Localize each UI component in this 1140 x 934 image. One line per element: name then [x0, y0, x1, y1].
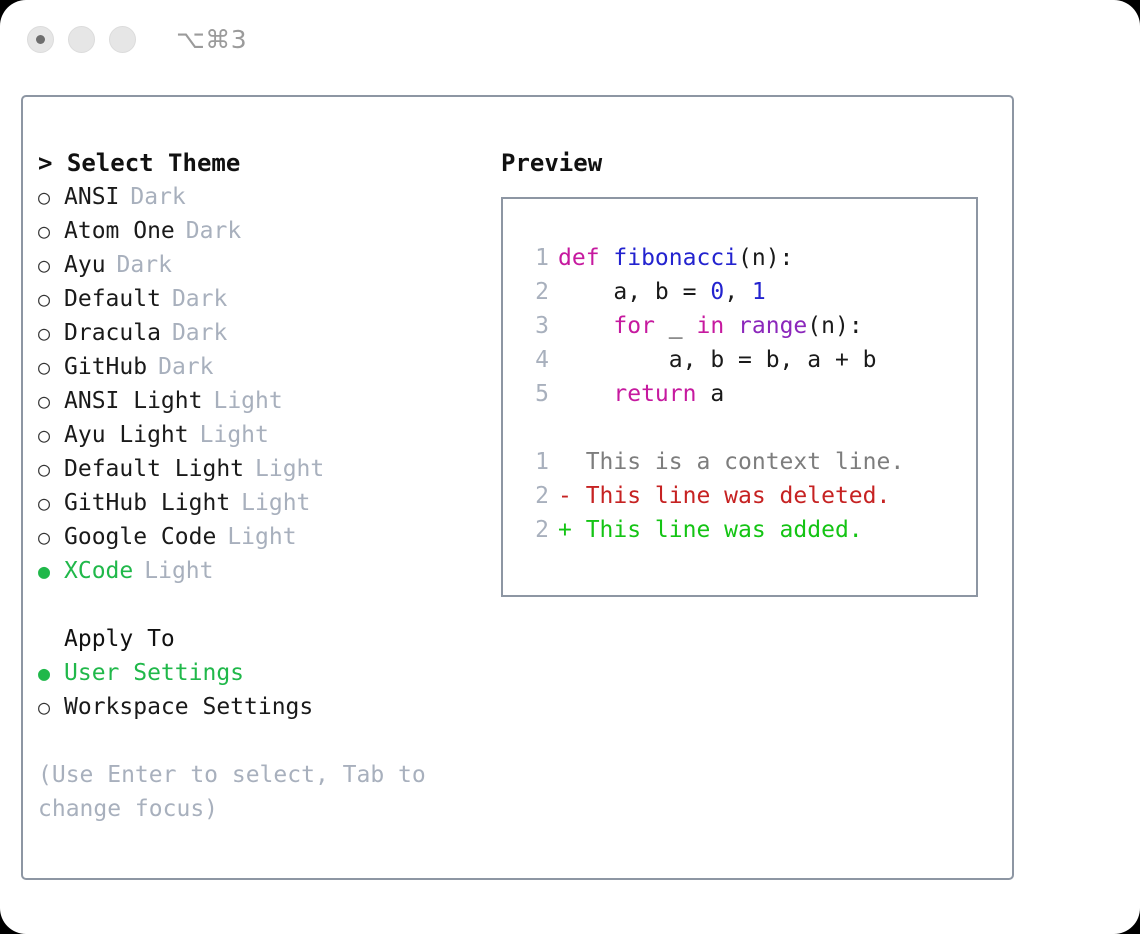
code-token-pl: _	[655, 313, 697, 339]
theme-option-ansi-light[interactable]: ○ANSI LightLight	[38, 384, 498, 418]
zoom-button[interactable]	[109, 26, 136, 53]
code-line: 5 return a	[521, 377, 976, 411]
theme-option-label: GitHub	[64, 350, 147, 384]
code-token-kw: def	[558, 245, 613, 271]
theme-variant-tag: Light	[213, 384, 282, 418]
theme-variant-tag: Dark	[117, 248, 172, 282]
theme-option-ansi[interactable]: ○ANSIDark	[38, 180, 498, 214]
code-token-kw: in	[696, 313, 724, 339]
preview-box: 1def fibonacci(n):2 a, b = 0, 13 for _ i…	[501, 197, 978, 597]
code-token-call: range	[738, 313, 807, 339]
code-token-del: - This line was deleted.	[558, 483, 890, 509]
theme-selector-column: > Select Theme ○ANSIDark○Atom OneDark○Ay…	[38, 146, 498, 826]
code-token-add: + This line was added.	[558, 517, 863, 543]
code-line-text: + This line was added.	[558, 513, 863, 547]
theme-option-default[interactable]: ○DefaultDark	[38, 282, 498, 316]
code-token-pl	[724, 313, 738, 339]
theme-variant-tag: Dark	[172, 316, 227, 350]
line-number: 2	[521, 479, 549, 513]
diff-preview: 1 This is a context line.2- This line wa…	[521, 445, 976, 547]
code-line-text: This is a context line.	[558, 445, 904, 479]
theme-option-label: GitHub Light	[64, 486, 230, 520]
close-button[interactable]	[27, 26, 54, 53]
traffic-light-group	[27, 26, 136, 53]
code-line-text: def fibonacci(n):	[558, 241, 793, 275]
theme-option-label: Ayu Light	[64, 418, 189, 452]
theme-option-label: Default Light	[64, 452, 244, 486]
code-token-ctx: This is a context line.	[558, 449, 904, 475]
apply-to-list: ●User Settings○Workspace Settings	[38, 656, 498, 724]
theme-option-atom-one[interactable]: ○Atom OneDark	[38, 214, 498, 248]
theme-option-github-light[interactable]: ○GitHub LightLight	[38, 486, 498, 520]
theme-option-github[interactable]: ○GitHubDark	[38, 350, 498, 384]
minimize-button[interactable]	[68, 26, 95, 53]
code-line: 1def fibonacci(n):	[521, 241, 976, 275]
code-token-pl: (n):	[738, 245, 793, 271]
main-panel: > Select Theme ○ANSIDark○Atom OneDark○Ay…	[21, 95, 1014, 880]
line-number: 1	[521, 445, 549, 479]
code-line: 4 a, b = b, a + b	[521, 343, 976, 377]
line-number: 2	[521, 513, 549, 547]
radio-unselected-icon: ○	[38, 214, 64, 248]
code-token-kw: for	[613, 313, 655, 339]
close-dot-icon	[36, 35, 45, 44]
radio-unselected-icon: ○	[38, 248, 64, 282]
theme-option-dracula[interactable]: ○DraculaDark	[38, 316, 498, 350]
radio-unselected-icon: ○	[38, 520, 64, 554]
theme-variant-tag: Dark	[172, 282, 227, 316]
line-number: 1	[521, 241, 549, 275]
code-token-pl: ,	[724, 279, 752, 305]
code-line-text: - This line was deleted.	[558, 479, 890, 513]
code-line-text: return a	[558, 377, 724, 411]
theme-option-label: ANSI	[64, 180, 119, 214]
theme-option-ayu-light[interactable]: ○Ayu LightLight	[38, 418, 498, 452]
theme-option-label: ANSI Light	[64, 384, 202, 418]
theme-variant-tag: Light	[241, 486, 310, 520]
radio-unselected-icon: ○	[38, 282, 64, 316]
line-number: 4	[521, 343, 549, 377]
preview-column: Preview 1def fibonacci(n):2 a, b = 0, 13…	[501, 146, 1001, 597]
radio-unselected-icon: ○	[38, 316, 64, 350]
theme-option-label: Ayu	[64, 248, 106, 282]
code-token-pl	[558, 313, 613, 339]
code-token-num: 0	[710, 279, 724, 305]
theme-variant-tag: Dark	[130, 180, 185, 214]
apply-to-option-label: Workspace Settings	[64, 690, 313, 724]
code-line: 3 for _ in range(n):	[521, 309, 976, 343]
theme-option-google-code[interactable]: ○Google CodeLight	[38, 520, 498, 554]
code-preview: 1def fibonacci(n):2 a, b = 0, 13 for _ i…	[521, 241, 976, 411]
apply-to-option-workspace-settings[interactable]: ○Workspace Settings	[38, 690, 498, 724]
line-number: 5	[521, 377, 549, 411]
code-line: 2- This line was deleted.	[521, 479, 976, 513]
preview-spacer	[521, 411, 976, 445]
code-token-pl	[558, 381, 613, 407]
apply-to-option-label: User Settings	[64, 656, 244, 690]
theme-variant-tag: Light	[144, 554, 213, 588]
radio-unselected-icon: ○	[38, 384, 64, 418]
theme-variant-tag: Light	[200, 418, 269, 452]
radio-unselected-icon: ○	[38, 486, 64, 520]
title-bar: ⌥⌘3	[0, 0, 1140, 78]
line-number: 3	[521, 309, 549, 343]
code-token-fn: fibonacci	[613, 245, 738, 271]
line-number: 2	[521, 275, 549, 309]
radio-unselected-icon: ○	[38, 350, 64, 384]
theme-option-xcode[interactable]: ●XCodeLight	[38, 554, 498, 588]
theme-option-label: Google Code	[64, 520, 216, 554]
code-line: 2+ This line was added.	[521, 513, 976, 547]
radio-unselected-icon: ○	[38, 418, 64, 452]
theme-list: ○ANSIDark○Atom OneDark○AyuDark○DefaultDa…	[38, 180, 498, 588]
code-token-pl: a, b =	[558, 279, 710, 305]
apply-to-option-user-settings[interactable]: ●User Settings	[38, 656, 498, 690]
theme-option-ayu[interactable]: ○AyuDark	[38, 248, 498, 282]
app-window: ⌥⌘3 > Select Theme ○ANSIDark○Atom OneDar…	[0, 0, 1140, 934]
theme-option-label: Default	[64, 282, 161, 316]
code-token-pl: (n):	[807, 313, 862, 339]
theme-variant-tag: Light	[227, 520, 296, 554]
code-line: 1 This is a context line.	[521, 445, 976, 479]
code-line-text: a, b = 0, 1	[558, 275, 766, 309]
code-token-pl: a, b = b, a + b	[558, 347, 877, 373]
radio-unselected-icon: ○	[38, 452, 64, 486]
code-token-kw: return	[613, 381, 696, 407]
theme-option-label: Dracula	[64, 316, 161, 350]
radio-unselected-icon: ○	[38, 690, 64, 724]
code-token-pl: a	[696, 381, 724, 407]
keyboard-hint-text: (Use Enter to select, Tab to change focu…	[38, 758, 438, 826]
radio-selected-icon: ●	[38, 554, 64, 588]
theme-variant-tag: Light	[255, 452, 324, 486]
keyboard-shortcut-label: ⌥⌘3	[176, 25, 247, 54]
code-line-text: for _ in range(n):	[558, 309, 863, 343]
code-token-num: 1	[752, 279, 766, 305]
radio-unselected-icon: ○	[38, 180, 64, 214]
code-line: 2 a, b = 0, 1	[521, 275, 976, 309]
select-theme-heading: > Select Theme	[38, 146, 498, 180]
theme-option-default-light[interactable]: ○Default LightLight	[38, 452, 498, 486]
code-line-text: a, b = b, a + b	[558, 343, 877, 377]
preview-heading: Preview	[501, 146, 1001, 180]
theme-option-label: Atom One	[64, 214, 175, 248]
theme-variant-tag: Dark	[186, 214, 241, 248]
apply-to-heading: Apply To	[64, 622, 498, 656]
theme-variant-tag: Dark	[158, 350, 213, 384]
panel-columns: > Select Theme ○ANSIDark○Atom OneDark○Ay…	[23, 97, 1012, 878]
radio-selected-icon: ●	[38, 656, 64, 690]
theme-option-label: XCode	[64, 554, 133, 588]
